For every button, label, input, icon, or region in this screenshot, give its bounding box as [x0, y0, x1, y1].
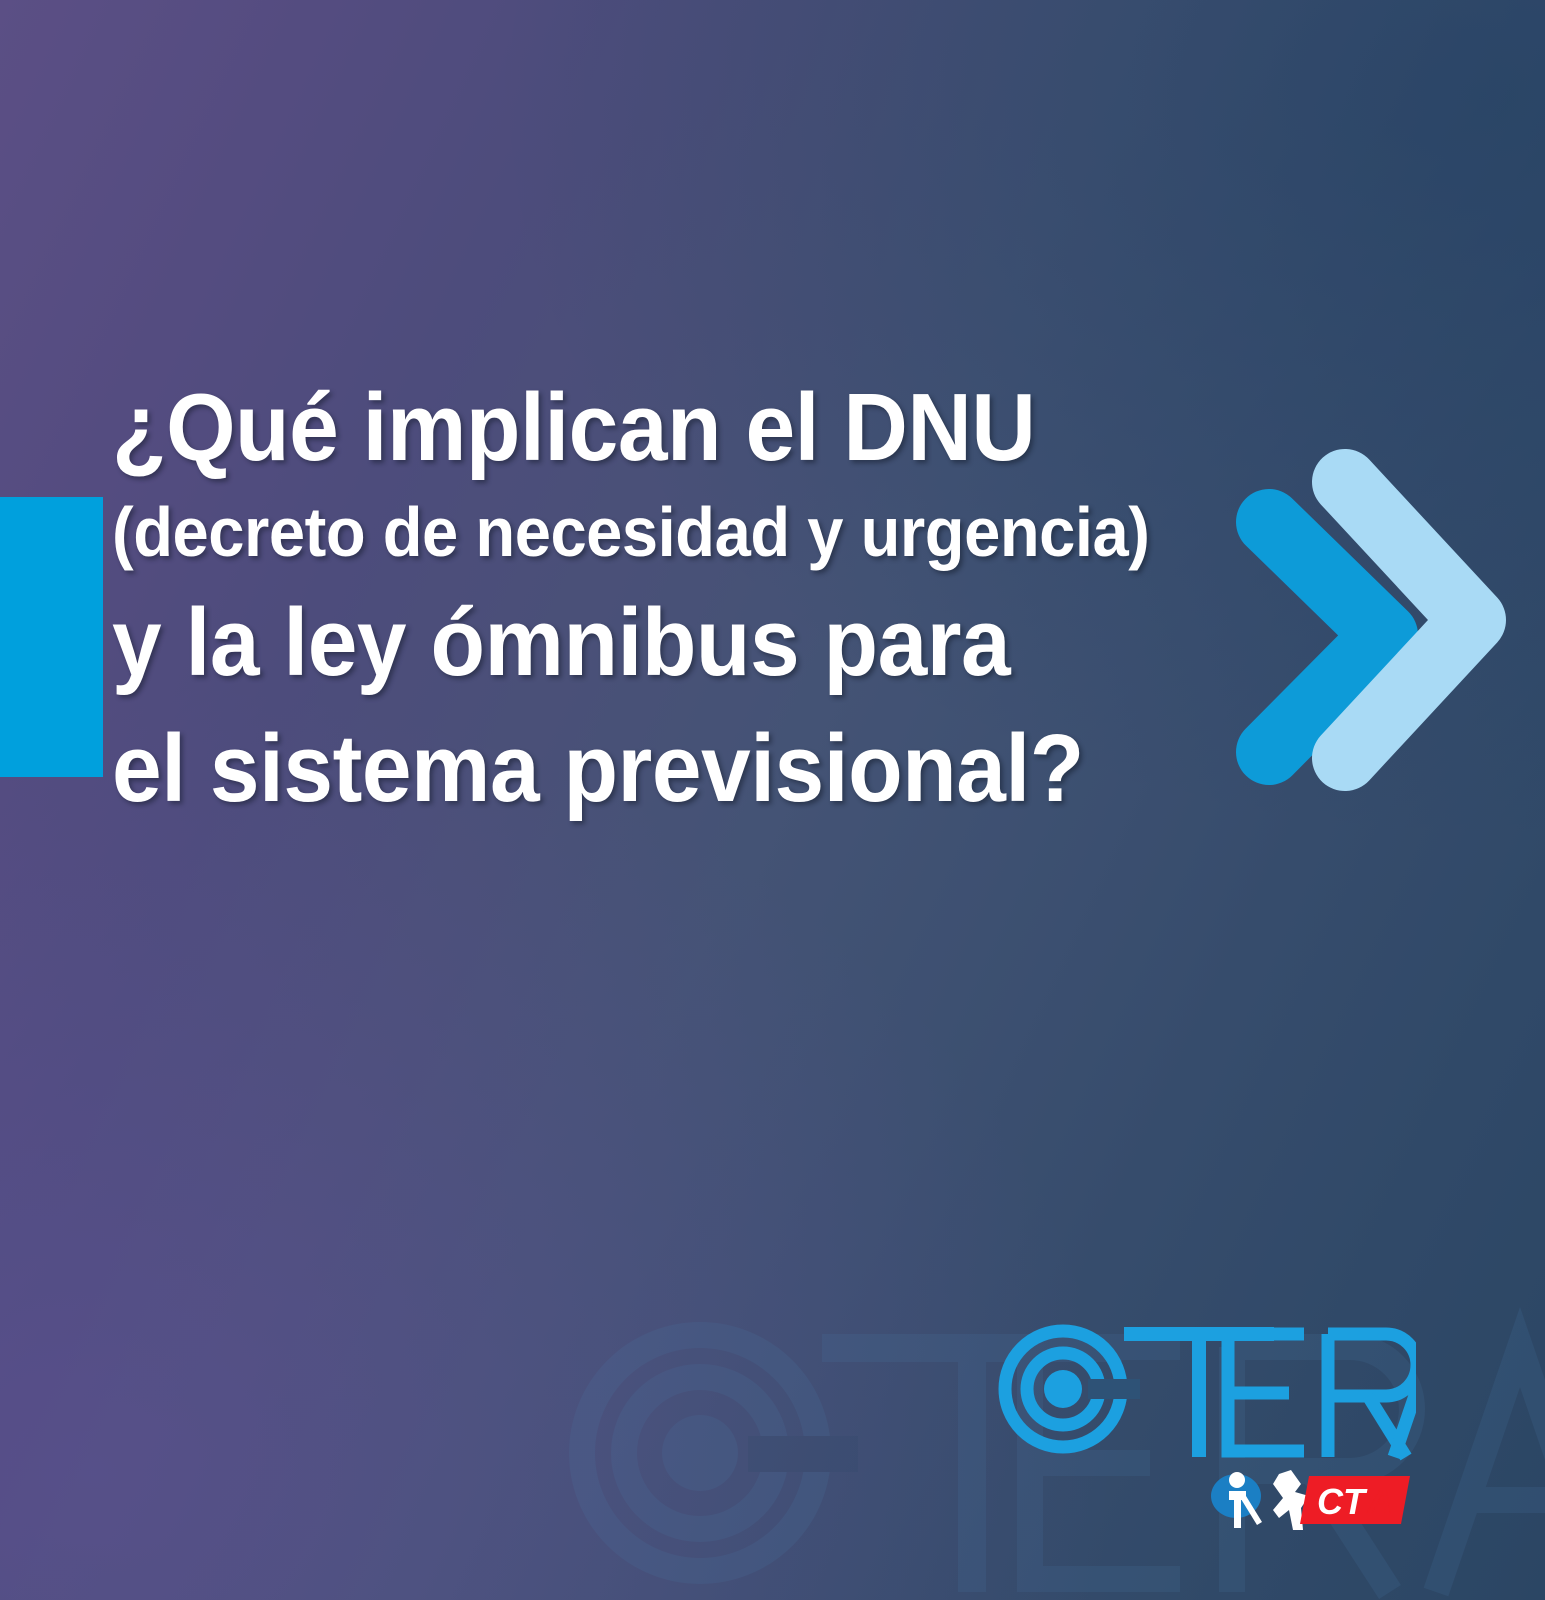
- left-accent-bar: [0, 497, 103, 777]
- headline-line-2: (decreto de necesidad y urgencia): [112, 484, 1293, 580]
- ctera-wordmark-text: CTERA: [996, 1305, 1051, 1309]
- headline-line-1: ¿Qué implican el DNU: [112, 372, 1293, 484]
- ctera-logo: CTERA: [996, 1305, 1416, 1470]
- cta-letter-c: C: [1317, 1481, 1344, 1522]
- cta-logo: C T A: [1205, 1462, 1410, 1540]
- social-card-poster: ¿Qué implican el DNU (decreto de necesid…: [0, 0, 1545, 1600]
- headline-block: ¿Qué implican el DNU (decreto de necesid…: [112, 372, 1382, 832]
- cta-letter-t: T: [1343, 1481, 1368, 1522]
- cta-letter-a: A: [1366, 1481, 1393, 1522]
- cta-red-wordmark: C T A: [1300, 1476, 1410, 1524]
- headline-line-3: y la ley ómnibus para: [112, 580, 1293, 706]
- headline-line-4: el sistema previsional?: [112, 706, 1293, 832]
